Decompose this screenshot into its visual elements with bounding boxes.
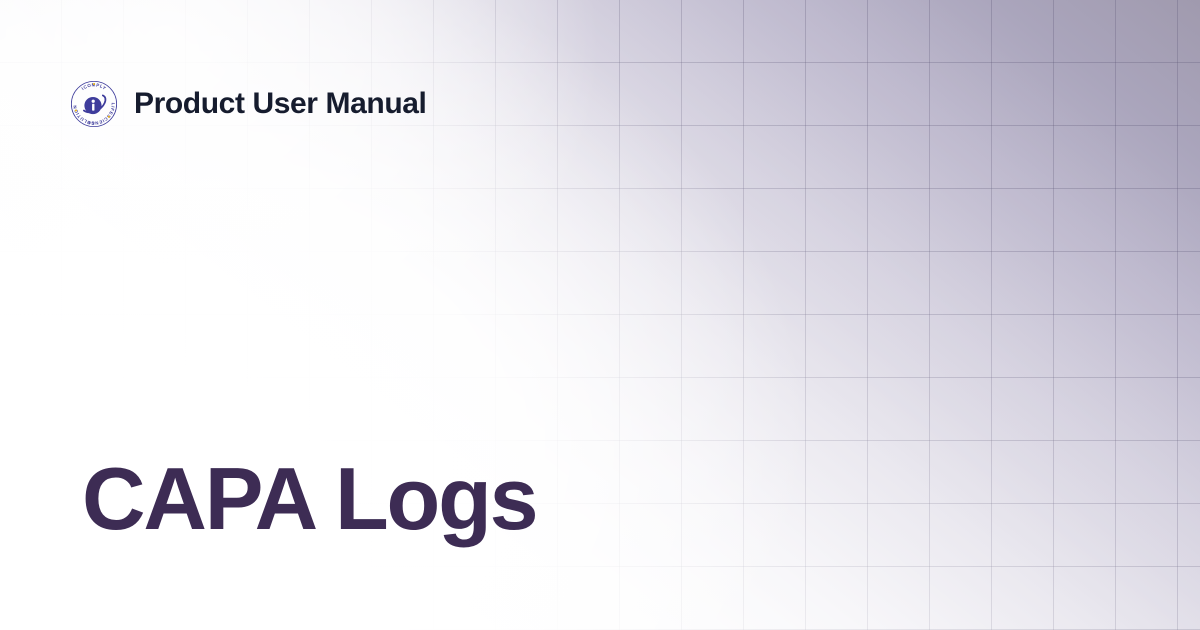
title-block: CAPA Logs bbox=[82, 452, 536, 545]
header: ICOMPLY LIFESCIENCE SOLUTIONS Product Us… bbox=[68, 78, 426, 130]
page-title: CAPA Logs bbox=[82, 452, 536, 545]
header-title: Product User Manual bbox=[134, 89, 426, 119]
icomply-planet-logo-icon: ICOMPLY LIFESCIENCE SOLUTIONS bbox=[68, 78, 120, 130]
background-bloom-upper-left bbox=[0, 0, 600, 430]
cover-canvas: ICOMPLY LIFESCIENCE SOLUTIONS Product Us… bbox=[0, 0, 1200, 630]
